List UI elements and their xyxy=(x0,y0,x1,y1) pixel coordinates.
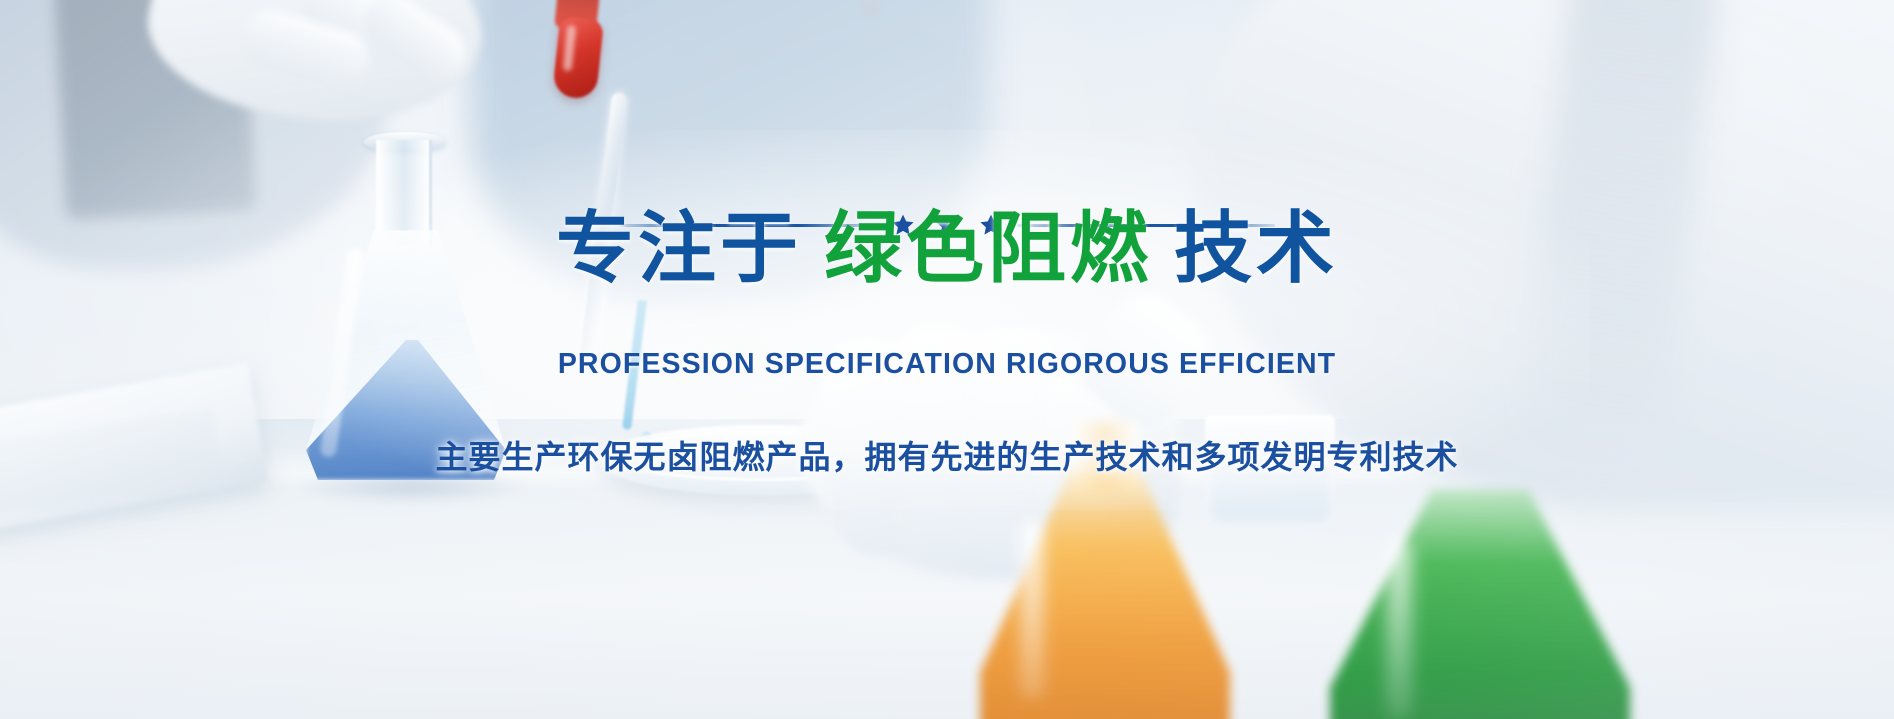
chinese-tagline: 主要生产环保无卤阻燃产品，拥有先进的生产技术和多项发明专利技术 xyxy=(0,432,1894,478)
orange-flask-highlight xyxy=(1020,520,1044,700)
coat-button xyxy=(862,0,880,18)
english-subtitle: PROFESSION SPECIFICATION RIGOROUS EFFICI… xyxy=(0,348,1894,381)
headline-part-three: 技术 xyxy=(1174,204,1338,292)
hero-banner: 专注于绿色阻燃技术 PROFESSION SPECIFICATION RIGOR… xyxy=(0,0,1894,719)
green-flask-body xyxy=(1330,490,1630,719)
green-liquid-flask xyxy=(1330,460,1630,719)
orange-flask-body xyxy=(980,470,1230,719)
headline-part-two: 绿色阻燃 xyxy=(824,204,1152,292)
green-flask-highlight xyxy=(1386,540,1412,719)
headline-part-one: 专注于 xyxy=(556,204,802,292)
page-title: 专注于绿色阻燃技术 xyxy=(0,202,1894,294)
